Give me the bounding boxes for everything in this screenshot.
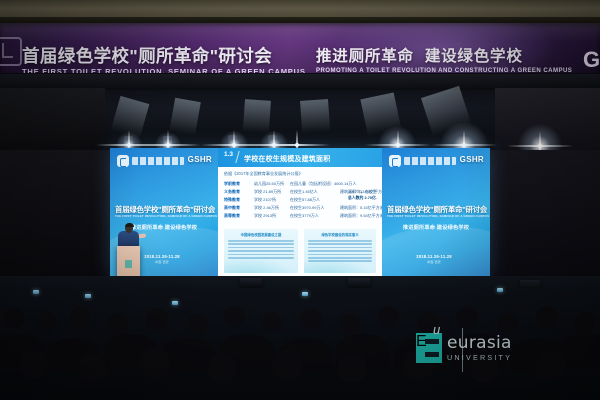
box-title: 中国绿色校园发展建设之路 <box>224 232 298 237</box>
raised-phone <box>85 294 91 298</box>
audience-head <box>140 348 170 378</box>
audience-head <box>262 312 282 332</box>
watermark: E u eurasia UNIVERSITY <box>416 333 512 363</box>
note-line-2: 总人数约 2.70亿. <box>348 195 377 200</box>
stage-monitor <box>240 278 262 287</box>
slide-source: 依据《2017年全国教育事业发展统计公报》 <box>224 171 303 177</box>
row-col4: 建筑面积：9.54亿平方米（普通高等教育） <box>340 213 382 219</box>
watermark-divider <box>462 328 463 372</box>
row-col2: 学校 21.89万所 <box>254 189 284 195</box>
banner-slogan-cn-b: 建设绿色学校 <box>425 48 523 65</box>
gshr-logo: GSHR <box>188 155 212 164</box>
audience-head <box>146 308 168 330</box>
row-col3: 在校生3779万人 <box>290 213 334 219</box>
raised-phone <box>302 292 308 296</box>
watermark-name: eurasia <box>447 335 512 352</box>
slide-heading: 学校在校生规模及建筑面积 <box>244 154 330 164</box>
watermark-subtitle: UNIVERSITY <box>447 353 512 362</box>
slide-header-bar: 1.3 学校在校生规模及建筑面积 <box>218 148 382 167</box>
slide-data-row: 高等教育 学校 2913所 在校生3779万人 建筑面积：9.54亿平方米（普通… <box>224 213 382 219</box>
audience-head <box>272 350 302 380</box>
panel-title-cn: 首届绿色学校"厕所革命"研讨会 <box>115 205 213 214</box>
box-wave-decor <box>304 257 376 273</box>
audience-head <box>108 314 128 334</box>
row-label: 义务教育 <box>224 189 248 195</box>
panel-slogan: 推进厕所革命 建设绿色学校 <box>387 224 485 232</box>
conference-photo: 首届绿色学校"厕所革命"研讨会 THE FIRST TOILET REVOLUT… <box>0 0 600 400</box>
organization-badge-icon <box>389 155 456 167</box>
row-col3: 在园儿童（包括附设班）4600.14万人 <box>290 181 334 187</box>
banner-slogan-cn-a: 推进厕所革命 <box>316 48 414 65</box>
slide-data-row: 特殊教育 学校 2107所 在校生57.88万人 <box>224 197 334 203</box>
box-wave-decor <box>224 257 298 273</box>
audience-head <box>300 308 322 330</box>
row-col3: 在校生57.88万人 <box>290 197 334 203</box>
lens-flare <box>538 144 542 148</box>
audience-head <box>378 306 399 327</box>
row-label: 学前教育 <box>224 181 248 187</box>
panel-date: 2018.11.26-11.28 <box>382 254 486 260</box>
camera-outline-icon <box>0 37 22 66</box>
watermark-text: u eurasia UNIVERSITY <box>447 335 512 362</box>
audience-head <box>574 312 595 333</box>
row-col4: 建筑面积：5.15亿平方米（面积） <box>340 205 382 211</box>
panel-location: 中国·西安 <box>382 260 486 265</box>
row-col3: 在校生3970.99万人 <box>290 205 334 211</box>
gshr-logo: GSHR <box>460 155 484 164</box>
panel-title-en: THE FIRST TOILET REVOLUTION, SEMINAR OF … <box>387 214 485 219</box>
box-text-lines <box>228 240 294 259</box>
slide-content-box-left: 中国绿色校园发展建设之路 <box>224 229 298 273</box>
slide-body: 依据《2017年全国教育事业发展统计公报》 学前教育 幼儿园25.50万所 在园… <box>218 167 382 276</box>
panel-title-en: THE FIRST TOILET REVOLUTION, SEMINAR OF … <box>115 214 213 219</box>
screen-panel-right: GSHR 首届绿色学校"厕所革命"研讨会 THE FIRST TOILET RE… <box>382 148 490 276</box>
row-col3: 在校生1.45亿人 <box>290 189 334 195</box>
raised-phone <box>33 290 39 294</box>
banner-title-cn: 首届绿色学校"厕所革命"研讨会 <box>22 47 306 66</box>
audience-head <box>78 354 106 382</box>
speaker-head <box>125 224 133 233</box>
panel-title-cn: 首届绿色学校"厕所革命"研讨会 <box>387 205 485 214</box>
raised-phone <box>172 301 178 305</box>
eurasia-e-logo-icon: E <box>416 333 442 363</box>
slide-data-row: 高中教育 学校 2.46万所 在校生3970.99万人 建筑面积：5.15亿平方… <box>224 205 382 211</box>
watermark-accent: u <box>433 323 440 336</box>
row-label: 特殊教育 <box>224 197 248 203</box>
panel-title-right: 首届绿色学校"厕所革命"研讨会 THE FIRST TOILET REVOLUT… <box>387 205 485 232</box>
audience-head <box>536 306 558 328</box>
slide-side-note: 2017年，在校生 总人数约 2.70亿. <box>348 189 377 201</box>
raised-phone <box>497 288 503 292</box>
light-beam <box>300 99 331 143</box>
row-col2: 学校 2107所 <box>254 197 284 203</box>
slide-data-row: 学前教育 幼儿园25.50万所 在园儿童（包括附设班）4600.14万人 <box>224 181 334 187</box>
audience-head <box>536 350 566 380</box>
audience-head <box>208 354 236 382</box>
row-col2: 学校 2913所 <box>254 213 284 219</box>
audience-head <box>4 308 24 328</box>
slide-content-box-right: 绿色学校建设的现实意义 <box>304 229 376 273</box>
box-title: 绿色学校建设的现实意义 <box>304 232 376 237</box>
banner-edge-letter: G <box>583 49 600 71</box>
audience-head <box>340 314 360 334</box>
audience-head <box>70 306 91 327</box>
audience-head <box>338 354 366 382</box>
organization-badge-icon <box>117 155 184 167</box>
banner-main-title: 首届绿色学校"厕所革命"研讨会 THE FIRST TOILET REVOLUT… <box>22 47 306 73</box>
banner-slogan: 推进厕所革命建设绿色学校 PROMOTING A TOILET REVOLUTI… <box>316 48 572 73</box>
panel-date-right: 2018.11.26-11.28 中国·西安 <box>382 254 486 265</box>
audience-head <box>188 314 208 334</box>
audience-head <box>456 307 478 329</box>
hall-wall-left <box>0 88 105 152</box>
audience-shoulders <box>560 334 600 370</box>
row-label: 高中教育 <box>224 205 248 211</box>
row-col2: 学校 2.46万所 <box>254 205 284 211</box>
audience-head <box>498 313 518 333</box>
stage-monitor <box>348 278 370 287</box>
audience-head <box>38 312 57 331</box>
row-col2: 幼儿园25.50万所 <box>254 181 284 187</box>
stage-banner: 首届绿色学校"厕所革命"研讨会 THE FIRST TOILET REVOLUT… <box>0 23 600 73</box>
presentation-slide: 1.3 学校在校生规模及建筑面积 依据《2017年全国教育事业发展统计公报》 学… <box>218 148 382 276</box>
hall-upper-wall <box>0 0 600 24</box>
slide-number: 1.3 <box>224 151 233 158</box>
audience-head <box>20 350 48 378</box>
row-label: 高等教育 <box>224 213 248 219</box>
slide-divider <box>235 151 240 163</box>
audience-head <box>224 306 245 327</box>
projection-screen: GSHR 首届绿色学校"厕所革命"研讨会 THE FIRST TOILET RE… <box>110 148 490 276</box>
